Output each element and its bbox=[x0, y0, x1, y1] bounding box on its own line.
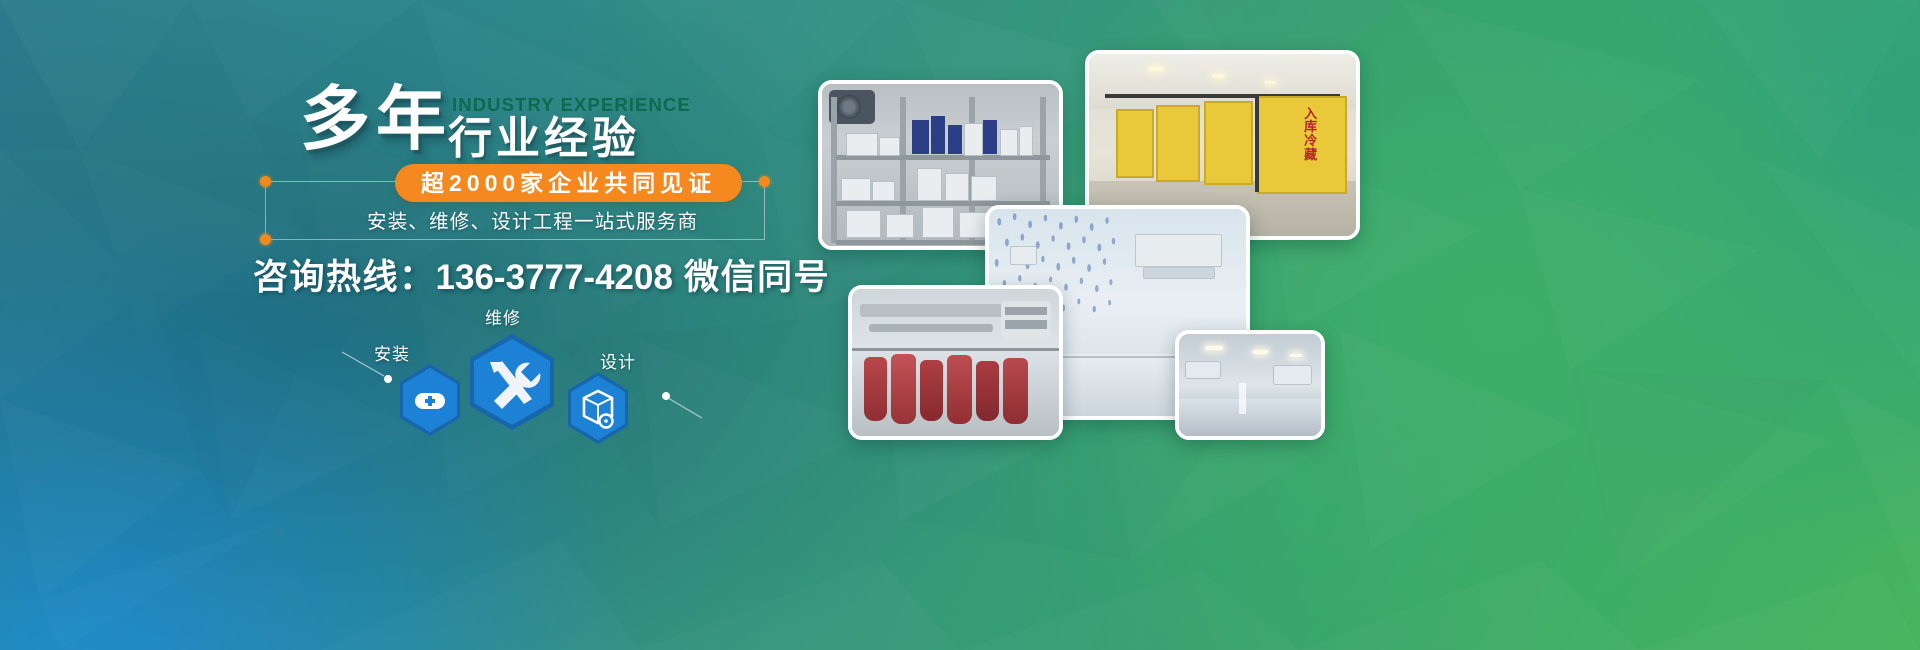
hotline-number[interactable]: 136-3777-4208 bbox=[436, 258, 673, 297]
photo-gallery: 入库冷藏 bbox=[800, 0, 1920, 650]
trust-badge: 超2000家企业共同见证 bbox=[395, 164, 742, 202]
frame-dot-top-left bbox=[260, 176, 271, 187]
connector-dot-right bbox=[662, 392, 670, 400]
promo-banner: 多年 INDUSTRY EXPERIENCE 行业经验 超2000家企业共同见证… bbox=[0, 0, 1920, 650]
headline-secondary: 行业经验 bbox=[448, 114, 640, 164]
headline-primary: 多年 bbox=[300, 84, 452, 154]
service-icons-group: 安装 维修 设计 bbox=[330, 300, 730, 480]
hotline-row: 咨询热线：136-3777-4208 微信同号 bbox=[253, 249, 830, 300]
banner-text-block: 多年 INDUSTRY EXPERIENCE 行业经验 超2000家企业共同见证… bbox=[0, 0, 820, 650]
door-sign: 入库冷藏 bbox=[1292, 107, 1329, 162]
headline-english: INDUSTRY EXPERIENCE bbox=[452, 94, 691, 116]
headline-group: 多年 INDUSTRY EXPERIENCE 行业经验 bbox=[300, 84, 452, 154]
connector-dot-left bbox=[384, 375, 392, 383]
cold-storage-bright-room-photo bbox=[1175, 330, 1325, 440]
connector-right bbox=[668, 398, 702, 418]
plus-box-icon bbox=[415, 393, 445, 409]
service-hexagon-repair[interactable] bbox=[470, 334, 554, 430]
frame-line-left bbox=[265, 181, 266, 239]
frame-line-right bbox=[764, 181, 765, 239]
connector-left bbox=[342, 352, 384, 376]
service-tagline: 安装、维修、设计工程一站式服务商 bbox=[367, 205, 698, 234]
service-hexagon-install[interactable] bbox=[400, 364, 460, 436]
hotline-label: 咨询热线： bbox=[253, 258, 436, 297]
frame-line-top-left bbox=[265, 181, 400, 182]
meat-cold-storage-photo bbox=[848, 285, 1063, 440]
frame-line-bottom bbox=[265, 239, 765, 240]
service-hexagon-design[interactable] bbox=[568, 372, 628, 444]
frame-dot-top-right bbox=[759, 176, 770, 187]
frame-dot-bottom-left bbox=[260, 234, 271, 245]
